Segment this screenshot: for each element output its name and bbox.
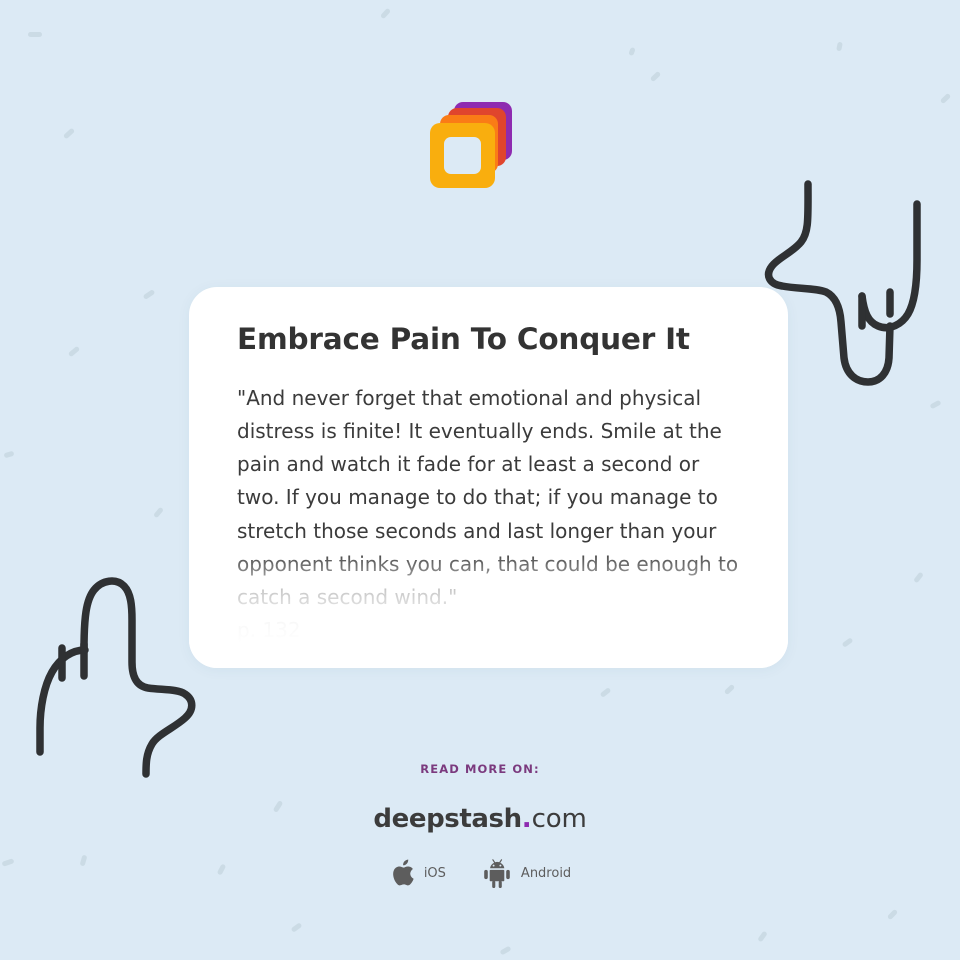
confetti-speck [842,637,854,648]
apple-icon [389,858,415,889]
deepstash-logo [428,102,518,194]
deepstash-wordmark[interactable]: deepstash.com [0,806,960,832]
confetti-speck [153,507,164,519]
wordmark-brand: deepstash [373,804,521,834]
confetti-speck [291,922,303,933]
android-app-badge[interactable]: Android [482,858,571,889]
deepstash-quote-card-image: Embrace Pain To Conquer It "And never fo… [0,0,960,960]
confetti-speck [836,42,843,52]
confetti-speck [724,684,735,695]
wordmark-dot: . [522,804,532,834]
read-more-label: READ MORE ON: [0,762,960,776]
ios-label: iOS [424,866,446,881]
confetti-speck [28,32,42,37]
android-label: Android [521,866,571,881]
confetti-speck [499,946,511,956]
page-title: Embrace Pain To Conquer It [237,321,740,358]
ios-app-badge[interactable]: iOS [389,858,446,889]
quote-card: Embrace Pain To Conquer It "And never fo… [189,287,788,668]
footer: READ MORE ON: deepstash.com iOS [0,762,960,889]
confetti-speck [887,909,898,920]
confetti-speck [143,289,156,300]
confetti-speck [380,8,391,20]
android-icon [482,858,512,889]
confetti-speck [929,400,941,410]
confetti-speck [940,93,951,104]
confetti-speck [4,451,15,459]
confetti-speck [628,47,635,56]
quote-card-content: Embrace Pain To Conquer It "And never fo… [189,287,788,648]
confetti-speck [63,128,75,140]
page-reference: p. 132 [237,614,740,647]
confetti-speck [650,71,661,82]
logo-inner-cutout [444,137,481,174]
wordmark-tld: com [532,804,587,834]
pointing-hand-illustration-left [22,558,208,780]
confetti-speck [757,931,768,943]
confetti-speck [600,687,612,698]
confetti-speck [68,346,80,358]
confetti-speck [913,572,924,584]
quote-body-text: "And never forget that emotional and phy… [237,382,740,614]
app-store-badges: iOS Android [0,858,960,889]
